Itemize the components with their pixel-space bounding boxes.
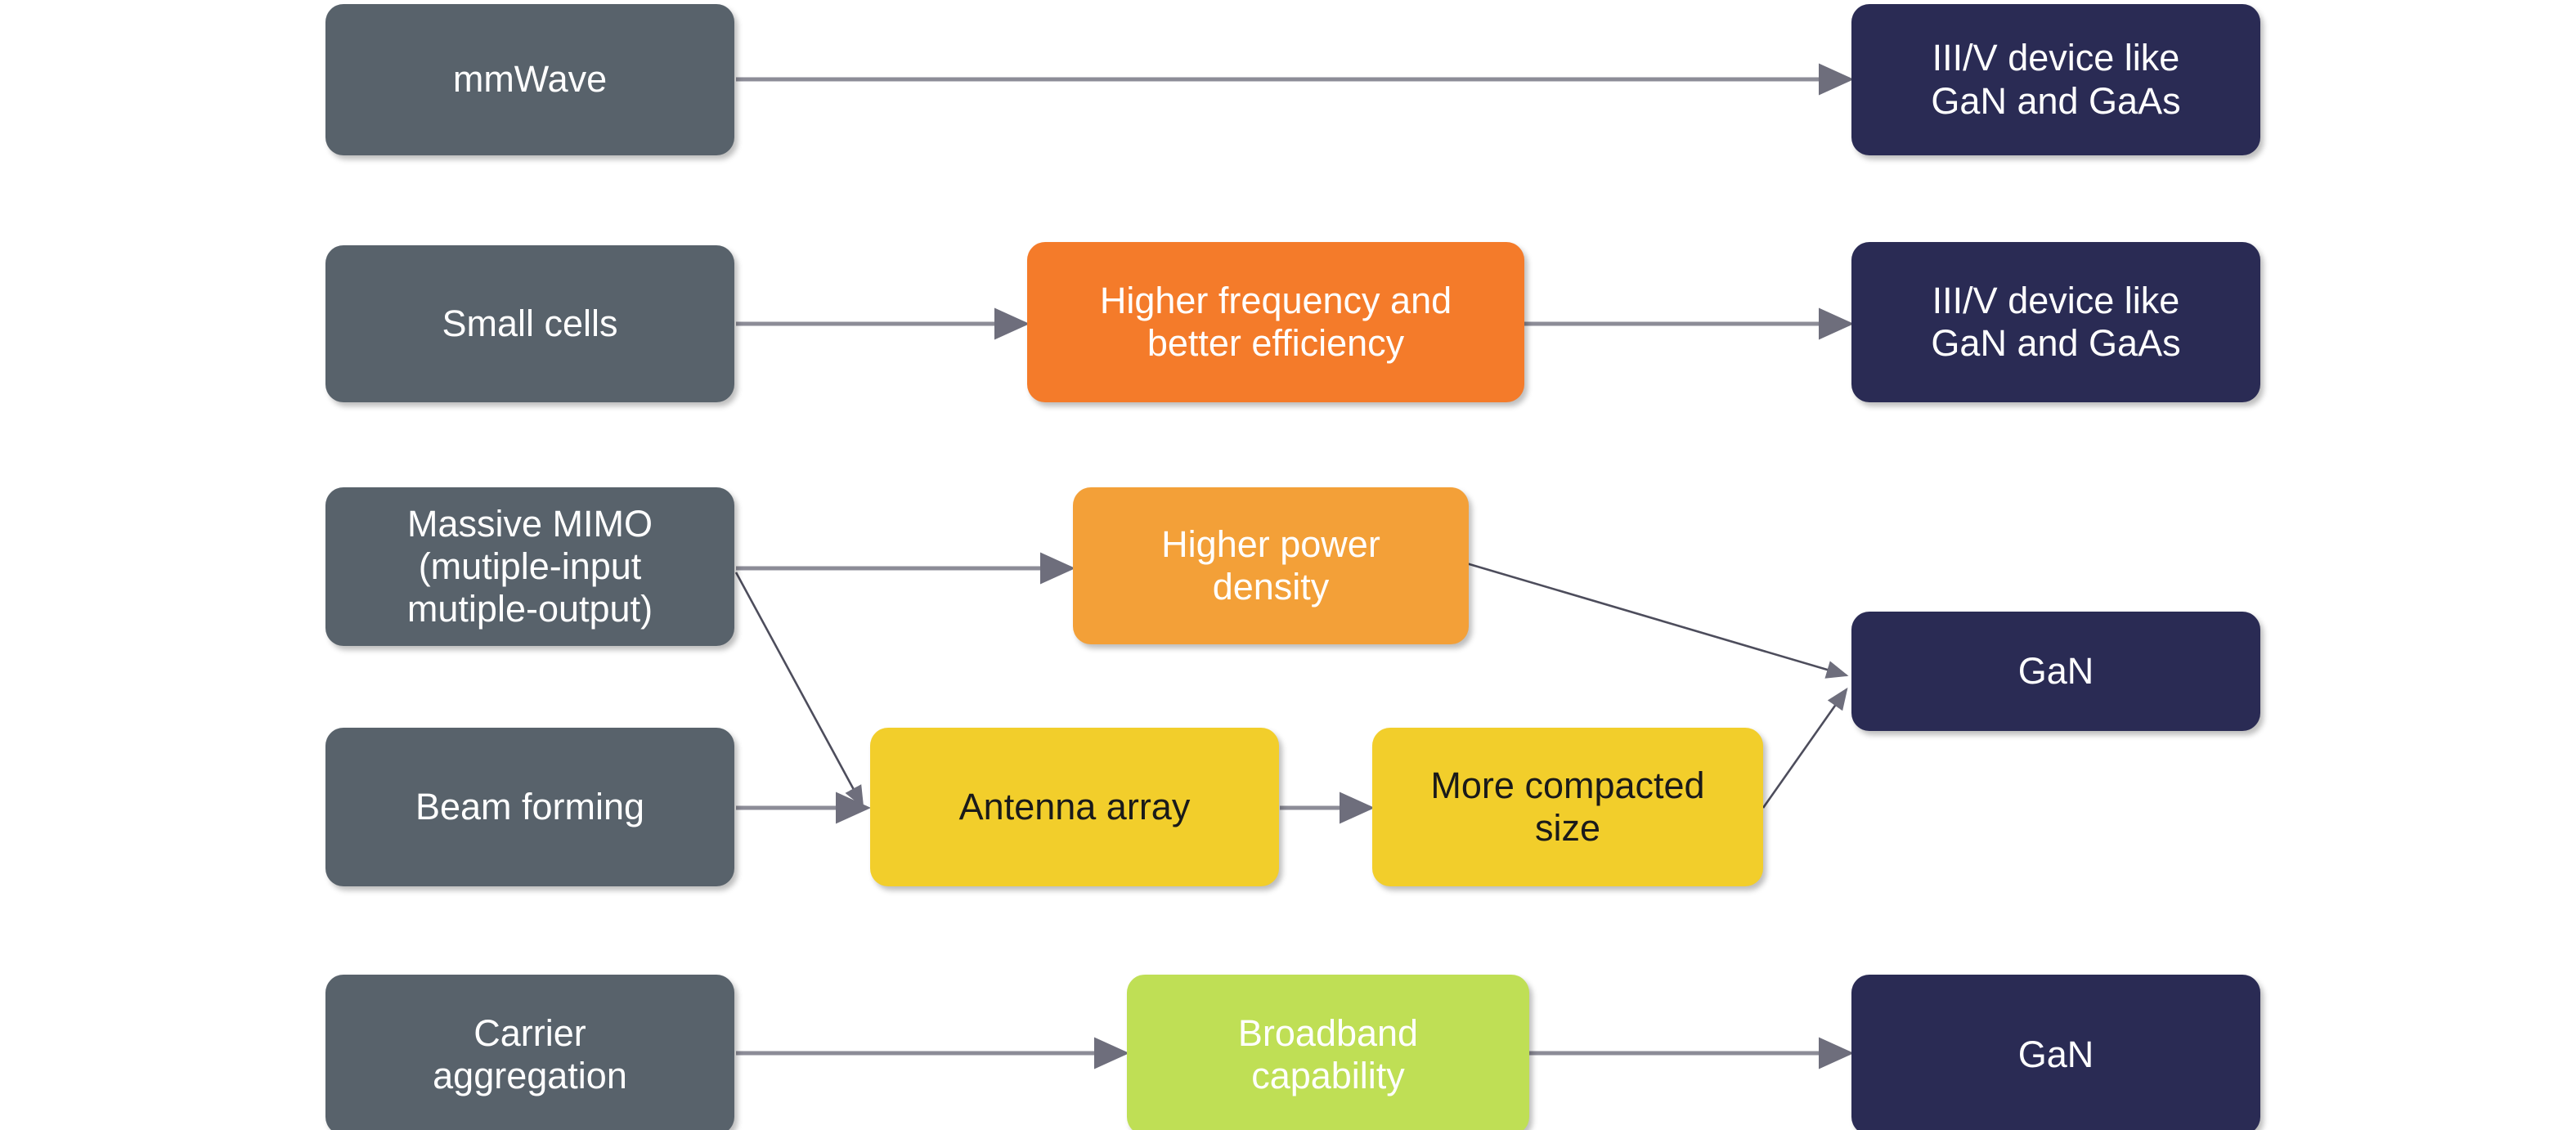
edge-massive-mimo-to-antenna-array	[736, 572, 863, 806]
node-higher-frequency[interactable]: Higher frequency and better efficiency	[1027, 242, 1524, 402]
node-massive-mimo-label: Massive MIMO (mutiple-input mutiple-outp…	[337, 503, 723, 631]
flowchart-canvas: mmWave III/V device like GaN and GaAs Sm…	[0, 0, 2576, 1130]
edge-more-compacted-size-to-gan	[1763, 689, 1847, 808]
node-gan-bottom[interactable]: GaN	[1851, 975, 2260, 1130]
node-antenna-array-label: Antenna array	[882, 786, 1268, 828]
node-gan-middle-label: GaN	[1863, 650, 2249, 693]
node-broadband-capability-label: Broadband capability	[1138, 1012, 1518, 1097]
edge-higher-power-density-to-gan	[1464, 563, 1847, 675]
node-mmwave[interactable]: mmWave	[325, 4, 734, 155]
node-small-cells[interactable]: Small cells	[325, 245, 734, 402]
node-carrier-aggregation[interactable]: Carrier aggregation	[325, 975, 734, 1130]
node-carrier-aggregation-label: Carrier aggregation	[337, 1012, 723, 1097]
node-gan-bottom-label: GaN	[1863, 1034, 2249, 1076]
node-broadband-capability[interactable]: Broadband capability	[1127, 975, 1529, 1130]
node-higher-power-density[interactable]: Higher power density	[1073, 487, 1469, 644]
node-device-top[interactable]: III/V device like GaN and GaAs	[1851, 4, 2260, 155]
node-mmwave-label: mmWave	[337, 58, 723, 101]
node-beam-forming[interactable]: Beam forming	[325, 728, 734, 886]
node-more-compacted-size[interactable]: More compacted size	[1372, 728, 1763, 886]
node-higher-power-density-label: Higher power density	[1084, 523, 1457, 608]
node-device-second[interactable]: III/V device like GaN and GaAs	[1851, 242, 2260, 402]
node-beam-forming-label: Beam forming	[337, 786, 723, 828]
node-device-top-label: III/V device like GaN and GaAs	[1863, 37, 2249, 122]
node-more-compacted-size-label: More compacted size	[1384, 765, 1752, 850]
node-device-second-label: III/V device like GaN and GaAs	[1863, 280, 2249, 365]
node-higher-frequency-label: Higher frequency and better efficiency	[1039, 280, 1513, 365]
node-antenna-array[interactable]: Antenna array	[870, 728, 1279, 886]
node-massive-mimo[interactable]: Massive MIMO (mutiple-input mutiple-outp…	[325, 487, 734, 646]
node-gan-middle[interactable]: GaN	[1851, 612, 2260, 731]
node-small-cells-label: Small cells	[337, 303, 723, 345]
